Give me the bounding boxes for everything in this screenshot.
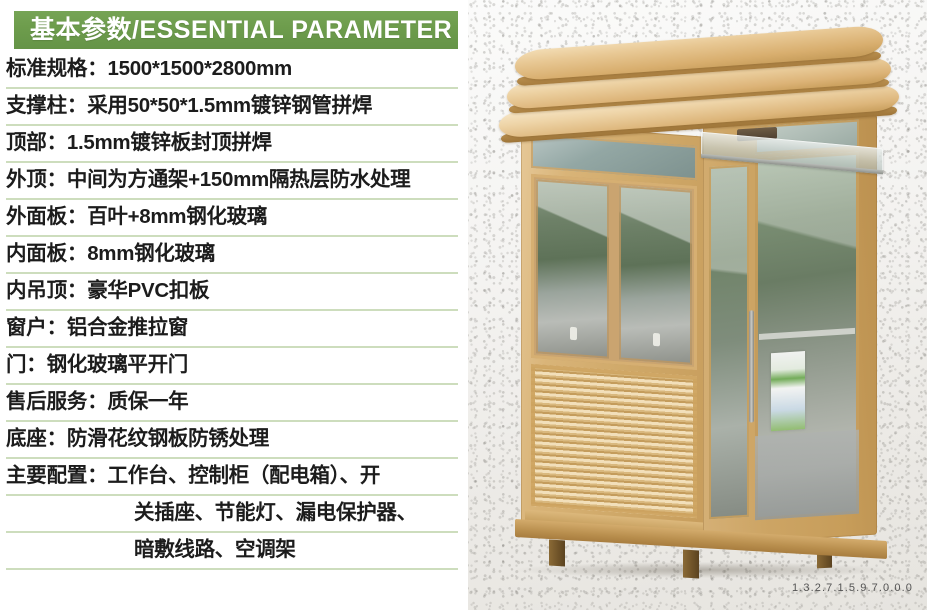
corner-glass-strip [709,165,749,520]
spec-row-label: 门： [6,355,47,376]
spec-row-label: 主要配置： [6,466,108,487]
spec-row-continuation: 关插座、节能灯、漏电保护器、 [6,496,458,533]
spec-row-label: 窗户： [6,318,67,339]
spec-row-value: 百叶+8mm钢化玻璃 [87,207,267,228]
spec-header-title: 基本参数/ESSENTIAL PARAMETER [30,18,452,43]
spec-row-label: 售后服务： [6,392,108,413]
sliding-window [531,174,697,370]
spec-row: 窗户：铝合金推拉窗 [6,311,458,348]
spec-row-list: 标准规格：1500*1500*2800mm 支撑柱：采用50*50*1.5mm镀… [0,52,468,570]
spec-row-label: 标准规格： [6,59,108,80]
tempered-glass-door [755,152,859,521]
window-pane-left [536,179,609,358]
spec-row-label: 支撑柱： [6,96,87,117]
spec-row-value: 中间为方通架+150mm隔热层防水处理 [67,170,410,191]
spec-row-continuation-text: 暗敷线路、空调架 [134,540,296,561]
booth-cabin [521,126,877,546]
guard-booth [487,22,911,592]
spec-row: 门：钢化玻璃平开门 [6,348,458,385]
side-wall-panel [703,115,877,546]
spec-row: 底座：防滑花纹钢板防锈处理 [6,422,458,459]
spec-row-continuation: 暗敷线路、空调架 [6,533,458,570]
spec-row-continuation-text: 关插座、节能灯、漏电保护器、 [134,503,417,524]
spec-row-label: 内面板： [6,244,87,265]
interior-shelf [759,328,855,340]
upper-transom-glass [531,134,697,180]
booth-leg [683,550,699,579]
spec-panel: 基本参数/ESSENTIAL PARAMETER 标准规格：1500*1500*… [0,0,468,610]
spec-row: 内面板：8mm钢化玻璃 [6,237,458,274]
spec-row-value: 铝合金推拉窗 [67,318,188,339]
spec-row-value: 防滑花纹钢板防锈处理 [67,429,269,450]
spec-row-label: 底座： [6,429,67,450]
spec-row: 标准规格：1500*1500*2800mm [6,52,458,89]
interior-carton [771,351,805,431]
spec-header-banner: 基本参数/ESSENTIAL PARAMETER [14,11,458,49]
spec-row-label: 外顶： [6,170,67,191]
spec-row-label: 外面板： [6,207,87,228]
spec-row-value: 1500*1500*2800mm [108,59,292,80]
spec-row-value: 8mm钢化玻璃 [87,244,215,265]
spec-row-value: 豪华PVC扣板 [87,281,209,302]
spec-row: 售后服务：质保一年 [6,385,458,422]
spec-row: 外面板：百叶+8mm钢化玻璃 [6,200,458,237]
spec-row-label: 内吊顶： [6,281,87,302]
window-pane-right [619,185,692,364]
spec-row: 内吊顶：豪华PVC扣板 [6,274,458,311]
spec-row-value: 钢化玻璃平开门 [47,355,188,376]
interior-floor [755,430,859,521]
spec-row: 支撑柱：采用50*50*1.5mm镀锌钢管拼焊 [6,89,458,126]
spec-row-value: 采用50*50*1.5mm镀锌钢管拼焊 [87,96,372,117]
front-wall-panel [521,123,707,547]
spec-row: 顶部：1.5mm镀锌板封顶拼焊 [6,126,458,163]
louver-vent-panel [531,364,697,518]
spec-row-value: 1.5mm镀锌板封顶拼焊 [67,133,272,154]
product-spec-image: 基本参数/ESSENTIAL PARAMETER 标准规格：1500*1500*… [0,0,927,610]
spec-row-value: 质保一年 [108,392,189,413]
door-handle [749,310,754,422]
spec-row: 主要配置：工作台、控制柜（配电箱）、开 [6,459,458,496]
photo-watermark: 1.3.2.7.1.5.9.7.0.0.0 [792,582,913,594]
product-photo: 1.3.2.7.1.5.9.7.0.0.0 [463,0,927,610]
spec-row-label: 顶部： [6,133,67,154]
spec-row: 外顶：中间为方通架+150mm隔热层防水处理 [6,163,458,200]
spec-row-value: 工作台、控制柜（配电箱）、开 [108,466,381,487]
